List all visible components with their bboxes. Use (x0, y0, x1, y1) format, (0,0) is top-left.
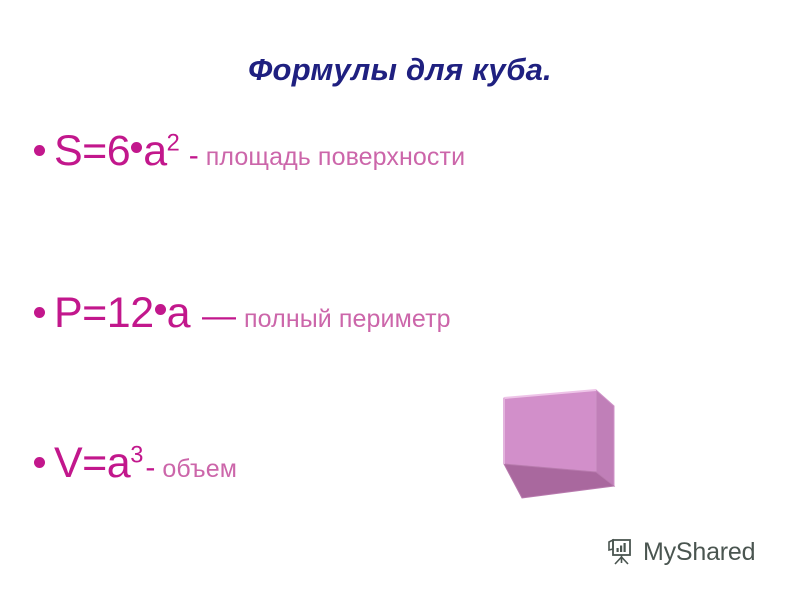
formula-line-volume: V=a3 - объем (34, 442, 237, 485)
bullet-dot-icon (34, 307, 45, 318)
myshared-watermark-text: MyShared (643, 540, 755, 565)
formula-line-surface-area: S=6a2 - площадь поверхности (34, 130, 465, 173)
formula-exponent: 3 (130, 442, 143, 468)
multiply-dot-icon (131, 142, 142, 153)
formula-exponent: 2 (167, 130, 180, 156)
formula-description: полный периметр (244, 307, 451, 332)
formula-dash: - (189, 141, 199, 171)
formula-description: площадь поверхности (206, 145, 465, 170)
bullet-dot-icon (34, 145, 45, 156)
formula-lhs: P=12 (54, 289, 154, 337)
formula-dash: - (145, 453, 155, 483)
formula-dash: — (202, 299, 236, 333)
cube-right-face (596, 390, 614, 486)
myshared-watermark: MyShared (606, 537, 755, 567)
slide-canvas: Формулы для куба. S=6a2 - площадь поверх… (0, 0, 800, 600)
formula-expression-surface-area: S=6a2 (54, 130, 180, 173)
cube-front-face (504, 390, 596, 472)
formula-expression-perimeter: P=12a (54, 292, 190, 335)
formula-expression-volume: V=a3 (54, 442, 143, 485)
page-title: Формулы для куба. (0, 52, 800, 88)
formula-description: объем (162, 457, 237, 482)
cube-illustration (496, 386, 631, 504)
flipchart-chart-icon (606, 537, 636, 567)
formula-variable: a (107, 439, 130, 487)
multiply-dot-icon (155, 304, 166, 315)
formula-variable: a (167, 289, 190, 337)
formula-lhs: V= (54, 439, 107, 487)
formula-line-perimeter: P=12a — полный периметр (34, 292, 451, 335)
formula-variable: a (143, 127, 166, 175)
formula-lhs: S=6 (54, 127, 130, 175)
bullet-dot-icon (34, 457, 45, 468)
